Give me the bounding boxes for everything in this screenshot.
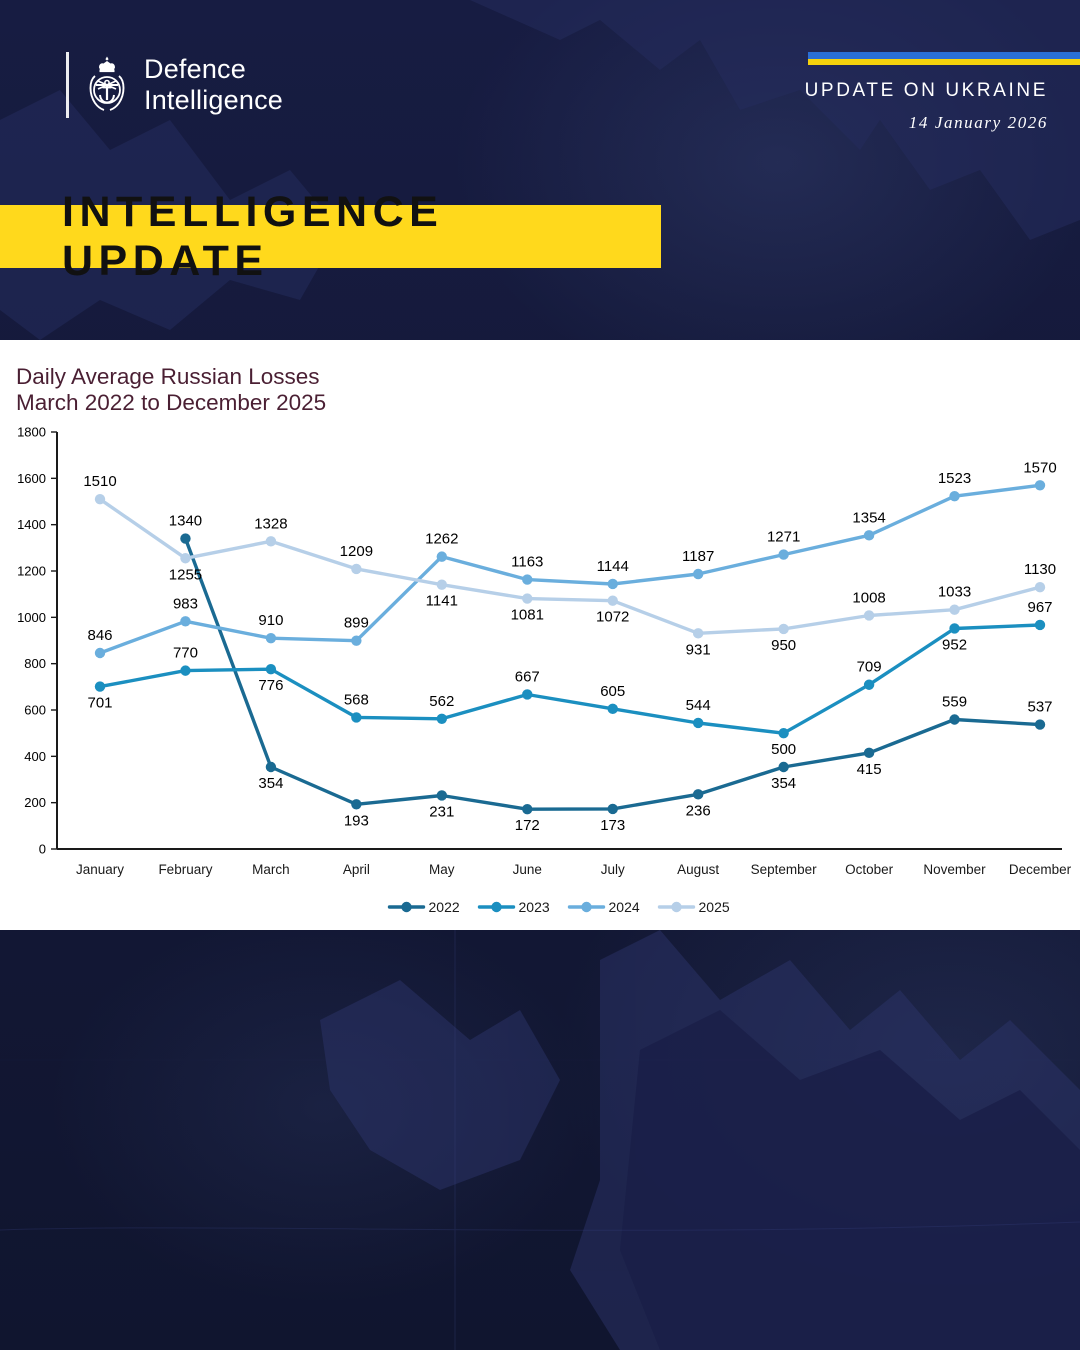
data-point-2023-July [608, 704, 618, 714]
data-point-2025-September [778, 624, 788, 634]
chart-series-group [95, 480, 1045, 814]
data-label-2023-June: 667 [515, 668, 540, 685]
data-point-2022-July [608, 804, 618, 814]
data-label-2023-January: 701 [87, 695, 112, 712]
data-point-2025-October [864, 610, 874, 620]
data-point-2024-January [95, 648, 105, 658]
data-point-2024-October [864, 530, 874, 540]
data-label-2025-February: 1255 [169, 566, 202, 583]
logo-divider-rule [66, 52, 69, 118]
data-label-2024-July: 1144 [597, 558, 629, 575]
legend-label-2024[interactable]: 2024 [609, 899, 640, 915]
infographic-page: Defence Intelligence UPDATE ON UKRAINE 1… [0, 0, 1080, 1350]
data-point-2022-April [351, 799, 361, 809]
data-label-2025-November: 1033 [938, 584, 971, 601]
data-point-2024-December [1035, 480, 1045, 490]
y-tick-label: 400 [24, 749, 46, 764]
data-label-2025-June: 1081 [511, 607, 544, 624]
data-point-2023-November [949, 623, 959, 633]
banner-title: INTELLIGENCE UPDATE [62, 188, 661, 286]
data-label-2023-February: 770 [173, 645, 198, 662]
logo-wordmark: Defence Intelligence [144, 54, 283, 116]
series-line-2023 [100, 625, 1040, 733]
x-axis-label: September [751, 862, 818, 877]
x-axis-label: August [677, 862, 719, 877]
data-label-2023-March: 776 [258, 677, 283, 694]
data-label-2024-February: 983 [173, 595, 198, 612]
data-label-2024-May: 1262 [425, 531, 458, 548]
legend-marker-2023[interactable] [491, 902, 501, 912]
y-tick-label: 1600 [17, 471, 46, 486]
royal-crest-icon [83, 54, 131, 116]
header-right-block: UPDATE ON UKRAINE 14 January 2026 [805, 80, 1048, 133]
data-point-2022-March [266, 762, 276, 772]
data-label-2024-September: 1271 [767, 529, 800, 546]
defence-intelligence-logo: Defence Intelligence [66, 52, 283, 118]
y-tick-label: 200 [24, 795, 46, 810]
x-axis-label: July [601, 862, 625, 877]
data-label-2022-February: 1340 [169, 513, 202, 530]
data-label-2022-March: 354 [258, 775, 283, 792]
data-point-2025-June [522, 593, 532, 603]
data-point-2025-November [949, 604, 959, 614]
data-point-2025-December [1035, 582, 1045, 592]
data-point-2022-November [949, 714, 959, 724]
data-label-2025-July: 1072 [596, 609, 629, 626]
x-axis-label: March [252, 862, 290, 877]
data-label-2024-April: 899 [344, 615, 369, 632]
legend-label-2023[interactable]: 2023 [519, 899, 550, 915]
x-axis-label: April [343, 862, 370, 877]
data-point-2024-April [351, 636, 361, 646]
legend-marker-2024[interactable] [581, 902, 591, 912]
y-tick-label: 600 [24, 703, 46, 718]
data-point-2025-April [351, 564, 361, 574]
data-point-2024-June [522, 574, 532, 584]
data-label-2022-August: 236 [686, 802, 711, 819]
chart-panel: Daily Average Russian Losses March 2022 … [0, 340, 1080, 930]
y-tick-label: 1200 [17, 564, 46, 579]
data-label-2025-April: 1209 [340, 543, 373, 560]
y-tick-label: 1000 [17, 610, 46, 625]
data-label-2023-September: 500 [771, 741, 796, 758]
y-tick-label: 1400 [17, 517, 46, 532]
data-point-2023-May [437, 714, 447, 724]
data-label-2024-March: 910 [258, 612, 283, 629]
data-point-2023-August [693, 718, 703, 728]
data-label-2024-October: 1354 [852, 509, 885, 526]
data-point-2024-February [180, 616, 190, 626]
data-point-2024-September [778, 549, 788, 559]
data-point-2022-October [864, 748, 874, 758]
data-label-2022-May: 231 [429, 803, 454, 820]
data-label-2023-August: 544 [686, 697, 711, 714]
series-line-2024 [100, 485, 1040, 653]
series-line-2025 [100, 499, 1040, 633]
data-label-2023-December: 967 [1027, 599, 1052, 616]
data-point-2022-December [1035, 719, 1045, 729]
y-tick-label: 800 [24, 656, 46, 671]
data-label-2023-May: 562 [429, 693, 454, 710]
legend-label-2022[interactable]: 2022 [429, 899, 460, 915]
data-label-2022-September: 354 [771, 775, 796, 792]
data-label-2025-September: 950 [771, 637, 796, 654]
data-label-2022-November: 559 [942, 693, 967, 710]
x-axis-label: November [923, 862, 986, 877]
x-axis-label: December [1009, 862, 1072, 877]
x-axis-label: June [513, 862, 542, 877]
data-label-2025-August: 931 [686, 641, 711, 658]
data-point-2024-August [693, 569, 703, 579]
data-point-2024-May [437, 551, 447, 561]
line-chart: 020040060080010001200140016001800 Januar… [0, 340, 1080, 930]
y-tick-label: 1800 [17, 425, 46, 440]
x-axis-label: May [429, 862, 455, 877]
data-point-2022-May [437, 790, 447, 800]
data-point-2023-February [180, 665, 190, 675]
flag-yellow-stripe [808, 59, 1080, 65]
data-point-2025-May [437, 579, 447, 589]
data-label-2025-March: 1328 [254, 515, 287, 532]
data-label-2022-July: 173 [600, 817, 625, 834]
x-axis-label: February [158, 862, 212, 877]
data-point-2022-February [180, 533, 190, 543]
header-kicker: UPDATE ON UKRAINE [805, 80, 1048, 102]
data-point-2023-June [522, 689, 532, 699]
x-axis-label: January [76, 862, 124, 877]
data-label-2023-April: 568 [344, 691, 369, 708]
data-point-2023-January [95, 681, 105, 691]
data-label-2022-October: 415 [857, 761, 882, 778]
header-date: 14 January 2026 [805, 113, 1048, 133]
logo-line-2: Intelligence [144, 85, 283, 116]
x-axis-label: October [845, 862, 894, 877]
data-label-2023-October: 709 [857, 659, 882, 676]
data-label-2025-October: 1008 [852, 589, 885, 606]
data-point-2023-September [778, 728, 788, 738]
data-label-2024-June: 1163 [511, 554, 543, 571]
page-header: Defence Intelligence UPDATE ON UKRAINE 1… [0, 0, 1080, 195]
data-label-2024-November: 1523 [938, 470, 971, 487]
data-label-2022-June: 172 [515, 817, 540, 834]
chart-axes [57, 432, 1062, 849]
data-point-2023-April [351, 712, 361, 722]
data-point-2024-July [608, 579, 618, 589]
data-label-2024-August: 1187 [682, 548, 714, 565]
legend-marker-2025[interactable] [671, 902, 681, 912]
data-label-2024-December: 1570 [1023, 459, 1056, 476]
flag-blue-stripe [808, 52, 1080, 59]
data-label-2023-July: 605 [600, 683, 625, 700]
data-label-2025-December: 1130 [1024, 561, 1056, 578]
intelligence-update-banner: INTELLIGENCE UPDATE [0, 205, 661, 268]
data-label-2025-January: 1510 [83, 473, 116, 490]
data-label-2022-April: 193 [344, 812, 369, 829]
ukraine-flag-bar [808, 52, 1080, 65]
data-point-2025-July [608, 595, 618, 605]
data-point-2024-March [266, 633, 276, 643]
data-point-2023-December [1035, 620, 1045, 630]
data-point-2025-August [693, 628, 703, 638]
data-label-2022-December: 537 [1027, 699, 1052, 716]
data-label-2023-November: 952 [942, 636, 967, 653]
data-label-2024-January: 846 [87, 627, 112, 644]
legend-label-2025[interactable]: 2025 [699, 899, 730, 915]
data-point-2025-February [180, 553, 190, 563]
y-tick-label: 0 [39, 842, 46, 857]
data-point-2025-January [95, 494, 105, 504]
data-point-2022-August [693, 789, 703, 799]
data-point-2024-November [949, 491, 959, 501]
legend-marker-2022[interactable] [401, 902, 411, 912]
data-point-2023-March [266, 664, 276, 674]
data-point-2022-September [778, 762, 788, 772]
data-point-2023-October [864, 680, 874, 690]
x-axis-category-labels: JanuaryFebruaryMarchAprilMayJuneJulyAugu… [76, 862, 1072, 877]
y-axis-ticks: 020040060080010001200140016001800 [17, 425, 57, 857]
logo-line-1: Defence [144, 54, 283, 85]
data-point-2022-June [522, 804, 532, 814]
data-point-2025-March [266, 536, 276, 546]
chart-legend: 2022202320242025 [390, 899, 730, 915]
data-label-2025-May: 1141 [426, 593, 458, 610]
